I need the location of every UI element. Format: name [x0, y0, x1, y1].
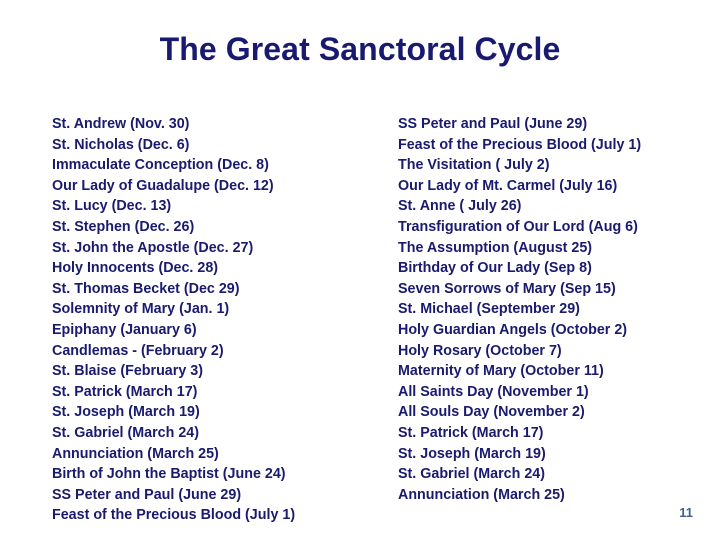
feast-list-item: Transfiguration of Our Lord (Aug 6) — [398, 217, 708, 238]
feast-list-item: Feast of the Precious Blood (July 1) — [52, 505, 382, 526]
feast-list-item: St. Michael (September 29) — [398, 299, 708, 320]
feast-list-item: Holy Guardian Angels (October 2) — [398, 320, 708, 341]
feast-list-item: Epiphany (January 6) — [52, 320, 382, 341]
feast-list-item: Birthday of Our Lady (Sep 8) — [398, 258, 708, 279]
feast-list-item: St. Stephen (Dec. 26) — [52, 217, 382, 238]
feast-list-item: St. Andrew (Nov. 30) — [52, 114, 382, 135]
feast-list-item: Holy Rosary (October 7) — [398, 341, 708, 362]
feast-list-item: All Souls Day (November 2) — [398, 402, 708, 423]
page-number: 11 — [679, 505, 693, 520]
feast-column-left: St. Andrew (Nov. 30)St. Nicholas (Dec. 6… — [52, 114, 382, 526]
feast-list-item: St. Joseph (March 19) — [398, 444, 708, 465]
feast-list-item: Our Lady of Guadalupe (Dec. 12) — [52, 176, 382, 197]
feast-column-right: SS Peter and Paul (June 29)Feast of the … — [398, 114, 708, 505]
feast-list-item: St. Gabriel (March 24) — [398, 464, 708, 485]
feast-list-item: SS Peter and Paul (June 29) — [52, 485, 382, 506]
feast-list-item: St. Gabriel (March 24) — [52, 423, 382, 444]
feast-list-item: Seven Sorrows of Mary (Sep 15) — [398, 279, 708, 300]
feast-list-item: Maternity of Mary (October 11) — [398, 361, 708, 382]
feast-list-item: Birth of John the Baptist (June 24) — [52, 464, 382, 485]
feast-list-item: St. Anne ( July 26) — [398, 196, 708, 217]
slide: The Great Sanctoral Cycle St. Andrew (No… — [0, 0, 720, 540]
feast-list-item: Solemnity of Mary (Jan. 1) — [52, 299, 382, 320]
feast-list-item: Our Lady of Mt. Carmel (July 16) — [398, 176, 708, 197]
feast-list-item: St. John the Apostle (Dec. 27) — [52, 238, 382, 259]
feast-list-item: Annunciation (March 25) — [52, 444, 382, 465]
feast-list-item: Candlemas - (February 2) — [52, 341, 382, 362]
feast-list-item: Immaculate Conception (Dec. 8) — [52, 155, 382, 176]
feast-list-item: St. Nicholas (Dec. 6) — [52, 135, 382, 156]
page-title: The Great Sanctoral Cycle — [0, 32, 720, 67]
feast-list-item: Feast of the Precious Blood (July 1) — [398, 135, 708, 156]
feast-list-item: SS Peter and Paul (June 29) — [398, 114, 708, 135]
feast-list-item: Holy Innocents (Dec. 28) — [52, 258, 382, 279]
feast-list-item: St. Patrick (March 17) — [398, 423, 708, 444]
feast-list-item: The Assumption (August 25) — [398, 238, 708, 259]
feast-list-item: St. Patrick (March 17) — [52, 382, 382, 403]
feast-list-item: St. Lucy (Dec. 13) — [52, 196, 382, 217]
feast-list-item: St. Blaise (February 3) — [52, 361, 382, 382]
feast-list-item: Annunciation (March 25) — [398, 485, 708, 506]
feast-list-columns: St. Andrew (Nov. 30)St. Nicholas (Dec. 6… — [0, 114, 720, 514]
feast-list-item: All Saints Day (November 1) — [398, 382, 708, 403]
feast-list-item: St. Joseph (March 19) — [52, 402, 382, 423]
feast-list-item: The Visitation ( July 2) — [398, 155, 708, 176]
feast-list-item: St. Thomas Becket (Dec 29) — [52, 279, 382, 300]
